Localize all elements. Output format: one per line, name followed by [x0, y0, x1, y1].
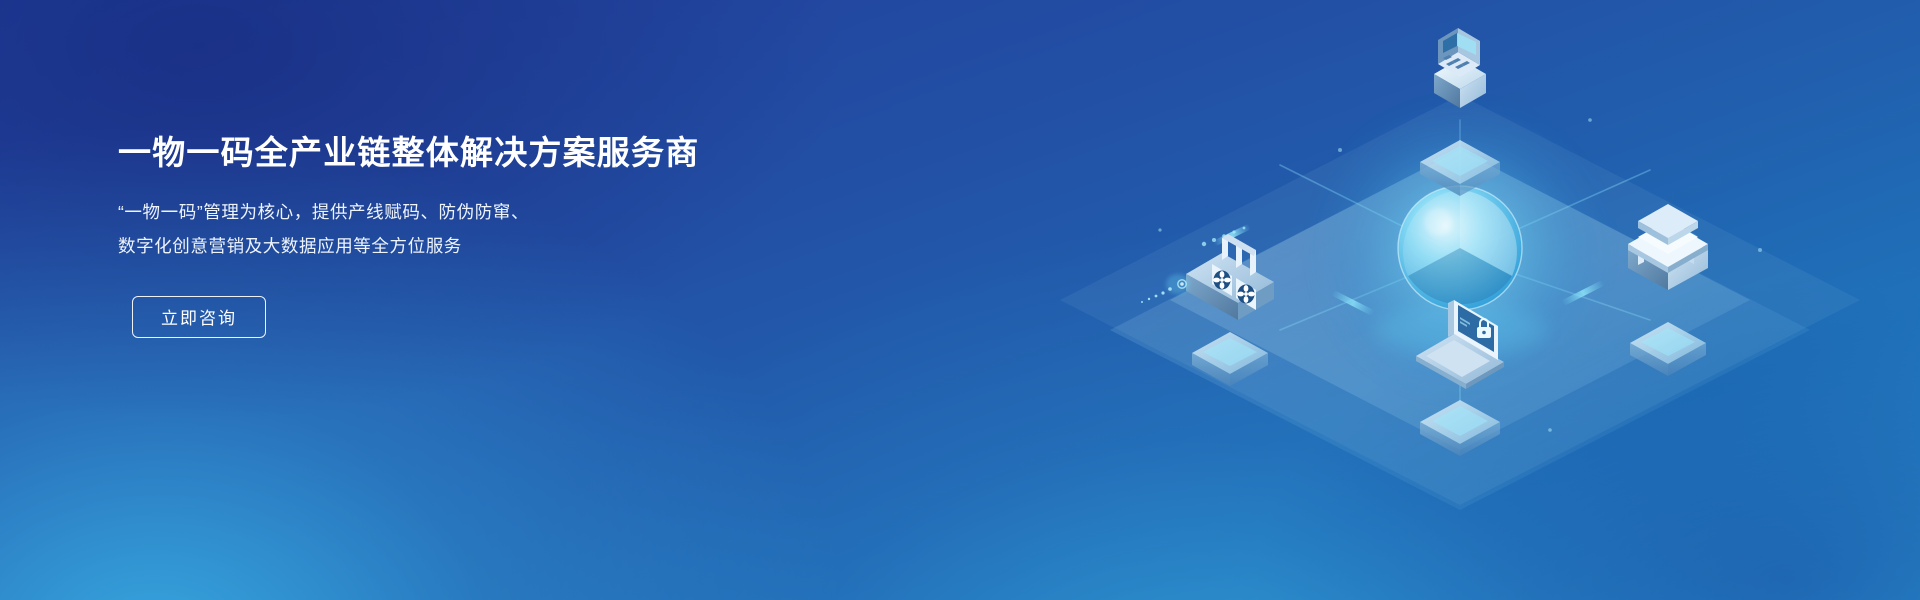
pos-terminal-icon: [1430, 28, 1490, 108]
subtitle-line-2: 数字化创意营销及大数据应用等全方位服务: [118, 229, 758, 263]
hero-subtitle: “一物一码”管理为核心，提供产线赋码、防伪防窜、 数字化创意营销及大数据应用等全…: [118, 195, 758, 263]
consult-now-button[interactable]: 立即咨询: [132, 296, 266, 338]
hero-text-block: 一物一码全产业链整体解决方案服务商 “一物一码”管理为核心，提供产线赋码、防伪防…: [118, 132, 758, 338]
subtitle-line-1: “一物一码”管理为核心，提供产线赋码、防伪防窜、: [118, 195, 758, 229]
hero-banner: 一物一码全产业链整体解决方案服务商 “一物一码”管理为核心，提供产线赋码、防伪防…: [0, 0, 1920, 600]
page-title: 一物一码全产业链整体解决方案服务商: [118, 132, 758, 173]
hero-illustration: [860, 0, 1920, 600]
